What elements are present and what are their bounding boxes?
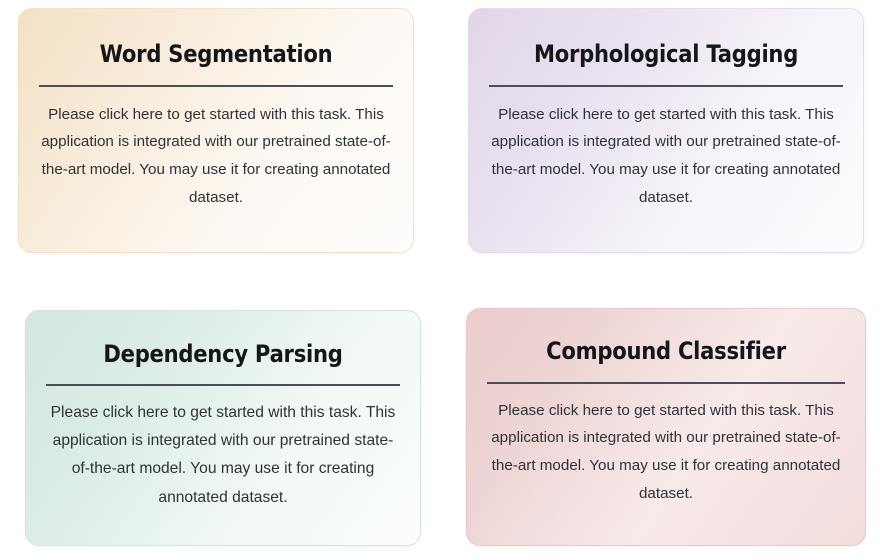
task-card-title: Morphological Tagging bbox=[508, 25, 823, 69]
task-card-title: Compound Classifier bbox=[507, 325, 826, 366]
task-card-description: Please click here to get started with th… bbox=[44, 386, 402, 513]
task-card-morphological-tagging[interactable]: Morphological Tagging Please click here … bbox=[468, 8, 864, 253]
task-card-grid: Word Segmentation Please click here to g… bbox=[0, 0, 880, 560]
task-card-description: Please click here to get started with th… bbox=[485, 384, 847, 508]
task-card-dependency-parsing[interactable]: Dependency Parsing Please click here to … bbox=[25, 310, 421, 546]
task-card-word-segmentation[interactable]: Word Segmentation Please click here to g… bbox=[18, 8, 414, 253]
task-card-description: Please click here to get started with th… bbox=[37, 87, 395, 212]
task-card-compound-classifier[interactable]: Compound Classifier Please click here to… bbox=[466, 308, 866, 546]
task-card-title: Dependency Parsing bbox=[65, 327, 380, 369]
task-card-description: Please click here to get started with th… bbox=[487, 87, 845, 212]
task-card-title: Word Segmentation bbox=[58, 25, 373, 69]
